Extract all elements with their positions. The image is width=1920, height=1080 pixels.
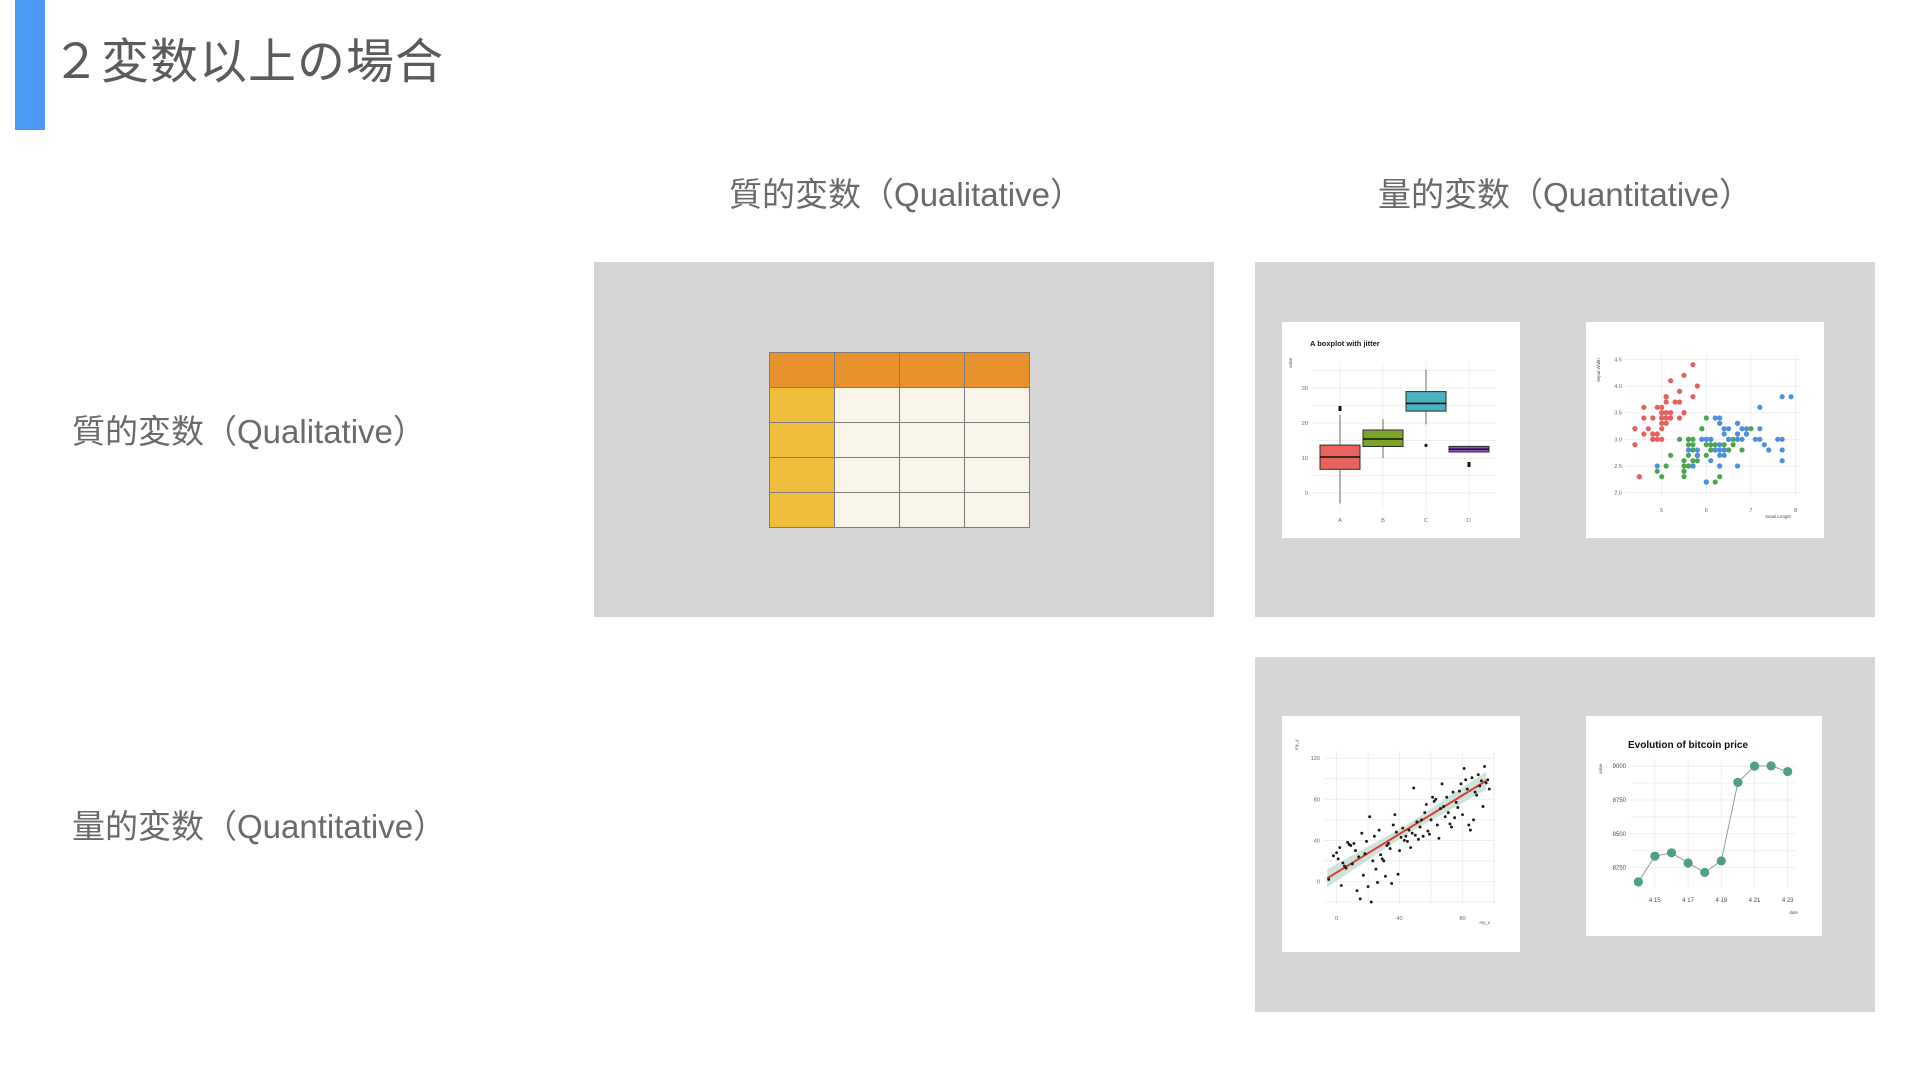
boxplot-ytick-10: 10: [1302, 456, 1308, 462]
boxplot-ytick-20: 20: [1302, 421, 1308, 427]
svg-text:40: 40: [1396, 916, 1402, 922]
boxplot-box-a: [1320, 406, 1360, 504]
svg-text:4 21: 4 21: [1749, 898, 1761, 904]
chart-card-boxplot: A boxplot with jitter value 0 10 20 30: [1282, 322, 1520, 538]
boxplot-chart: A boxplot with jitter value 0 10 20 30: [1282, 322, 1520, 538]
svg-text:6: 6: [1705, 508, 1708, 514]
table-row: [770, 423, 1030, 458]
svg-text:8500: 8500: [1613, 832, 1627, 838]
table-row: [770, 388, 1030, 423]
table-body-cell: [835, 458, 900, 493]
boxplot-xtick-c: C: [1424, 518, 1428, 524]
table-header-cell: [900, 353, 965, 388]
table-side-cell: [770, 388, 835, 423]
iris-ytick-labels: 2.02.53.03.54.04.5: [1614, 357, 1622, 496]
boxplot-ytick-30: 30: [1302, 386, 1308, 392]
svg-text:4.0: 4.0: [1614, 384, 1622, 390]
table-header-cell: [770, 353, 835, 388]
bitcoin-ytick-labels: 8250850087509000: [1613, 764, 1627, 872]
svg-text:3.5: 3.5: [1614, 411, 1622, 417]
boxplot-ytick-0: 0: [1305, 491, 1308, 497]
table-body-cell: [965, 493, 1030, 528]
table-body-cell: [965, 388, 1030, 423]
row-header-qualitative: 質的変数（Qualitative）: [72, 405, 426, 453]
svg-text:3.0: 3.0: [1614, 437, 1622, 443]
svg-text:4.5: 4.5: [1614, 357, 1622, 363]
bitcoin-y-axis-label: value: [1598, 763, 1603, 774]
table-side-cell: [770, 493, 835, 528]
bitcoin-chart: Evolution of bitcoin price value date 82…: [1586, 716, 1822, 936]
svg-text:8750: 8750: [1613, 798, 1627, 804]
svg-text:2.5: 2.5: [1614, 464, 1622, 470]
bitcoin-title: Evolution of bitcoin price: [1628, 740, 1748, 751]
boxplot-y-axis-label: value: [1288, 357, 1293, 368]
svg-text:5: 5: [1660, 508, 1663, 514]
iris-x-axis-label: Sepal.Length: [1765, 514, 1791, 519]
svg-text:80: 80: [1459, 916, 1465, 922]
svg-text:0: 0: [1335, 916, 1338, 922]
boxplot-box-b: [1363, 419, 1403, 458]
svg-text:9000: 9000: [1613, 764, 1627, 770]
chart-card-iris-scatter: Sepal.Width Sepal.Length 2.02.53.03.54.0…: [1586, 322, 1824, 538]
table-header-cell: [835, 353, 900, 388]
table-body-cell: [835, 423, 900, 458]
svg-text:4 19: 4 19: [1715, 898, 1727, 904]
chart-card-bitcoin: Evolution of bitcoin price value date 82…: [1586, 716, 1822, 936]
regression-ytick-labels: 04080120: [1311, 756, 1320, 885]
svg-text:120: 120: [1311, 756, 1320, 762]
boxplot-xtick-a: A: [1338, 518, 1342, 524]
table-body-cell: [835, 493, 900, 528]
table-side-cell: [770, 458, 835, 493]
bitcoin-gridlines: [1630, 758, 1796, 888]
table-row: [770, 493, 1030, 528]
table-body-cell: [900, 423, 965, 458]
column-header-qualitative: 質的変数（Qualitative）: [596, 168, 1216, 216]
table-body-cell: [965, 423, 1030, 458]
regression-chart: my_y my_x 04080120 04080: [1282, 716, 1520, 952]
chart-card-regression: my_y my_x 04080120 04080: [1282, 716, 1520, 952]
boxplot-xtick-d: D: [1467, 518, 1471, 524]
title-accent-bar: [15, 0, 45, 130]
boxplot-title: A boxplot with jitter: [1310, 339, 1380, 348]
bitcoin-x-axis-label: date: [1789, 910, 1798, 915]
svg-text:0: 0: [1317, 879, 1320, 885]
svg-text:80: 80: [1314, 797, 1320, 803]
table-body-cell: [900, 388, 965, 423]
svg-text:7: 7: [1749, 508, 1752, 514]
table-row: [770, 458, 1030, 493]
svg-text:40: 40: [1314, 838, 1320, 844]
svg-text:8: 8: [1794, 508, 1797, 514]
svg-text:2.0: 2.0: [1614, 491, 1622, 497]
svg-text:8250: 8250: [1613, 866, 1627, 872]
table-body-cell: [900, 493, 965, 528]
boxplot-xtick-b: B: [1381, 518, 1385, 524]
contingency-table: [769, 352, 1030, 528]
bitcoin-xtick-labels: 4 154 174 194 214 23: [1649, 898, 1794, 904]
table-row: [770, 353, 1030, 388]
table-body-cell: [965, 458, 1030, 493]
page-title: ２変数以上の場合: [52, 22, 444, 92]
row-header-quantitative: 量的変数（Quantitative）: [72, 800, 446, 848]
iris-y-axis-label: Sepal.Width: [1596, 358, 1601, 382]
svg-text:4 17: 4 17: [1682, 898, 1694, 904]
regression-y-axis-label: my_y: [1294, 739, 1299, 750]
iris-gridlines: [1626, 354, 1800, 498]
regression-xtick-labels: 04080: [1335, 916, 1466, 922]
table-header-cell: [965, 353, 1030, 388]
regression-x-axis-label: my_x: [1480, 920, 1491, 925]
svg-text:4 15: 4 15: [1649, 898, 1661, 904]
column-header-quantitative: 量的変数（Quantitative）: [1255, 168, 1875, 216]
iris-scatter-chart: Sepal.Width Sepal.Length 2.02.53.03.54.0…: [1586, 322, 1824, 538]
svg-text:4 23: 4 23: [1782, 898, 1794, 904]
table-side-cell: [770, 423, 835, 458]
table-body-cell: [900, 458, 965, 493]
table-body-cell: [835, 388, 900, 423]
